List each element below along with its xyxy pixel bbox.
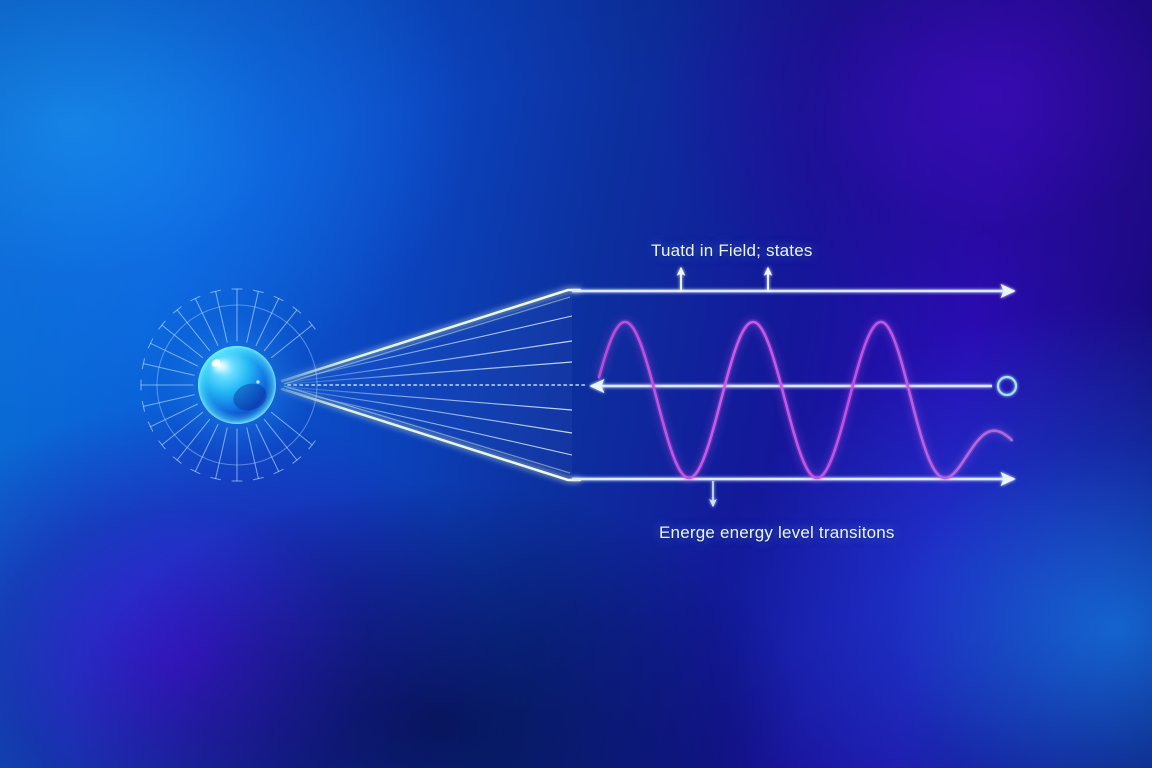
energy-transitions-label: Energe energy level transitons — [659, 523, 895, 543]
emission-cone — [282, 290, 585, 480]
axis-group — [572, 291, 1014, 479]
wave-stroke — [599, 322, 1012, 478]
excited-atom — [141, 289, 317, 481]
atom-inner-speck — [256, 380, 259, 383]
diagram-vector-art — [0, 0, 1152, 768]
wave-glow-stroke — [599, 322, 1012, 478]
diagram-canvas: Tuatd in Field; states Energe energy lev… — [0, 0, 1152, 768]
probability-wave — [599, 322, 1012, 478]
orbital-circle-marker — [998, 377, 1016, 395]
field-states-label: Tuatd in Field; states — [651, 241, 813, 261]
atom-sphere-rim — [198, 346, 276, 424]
